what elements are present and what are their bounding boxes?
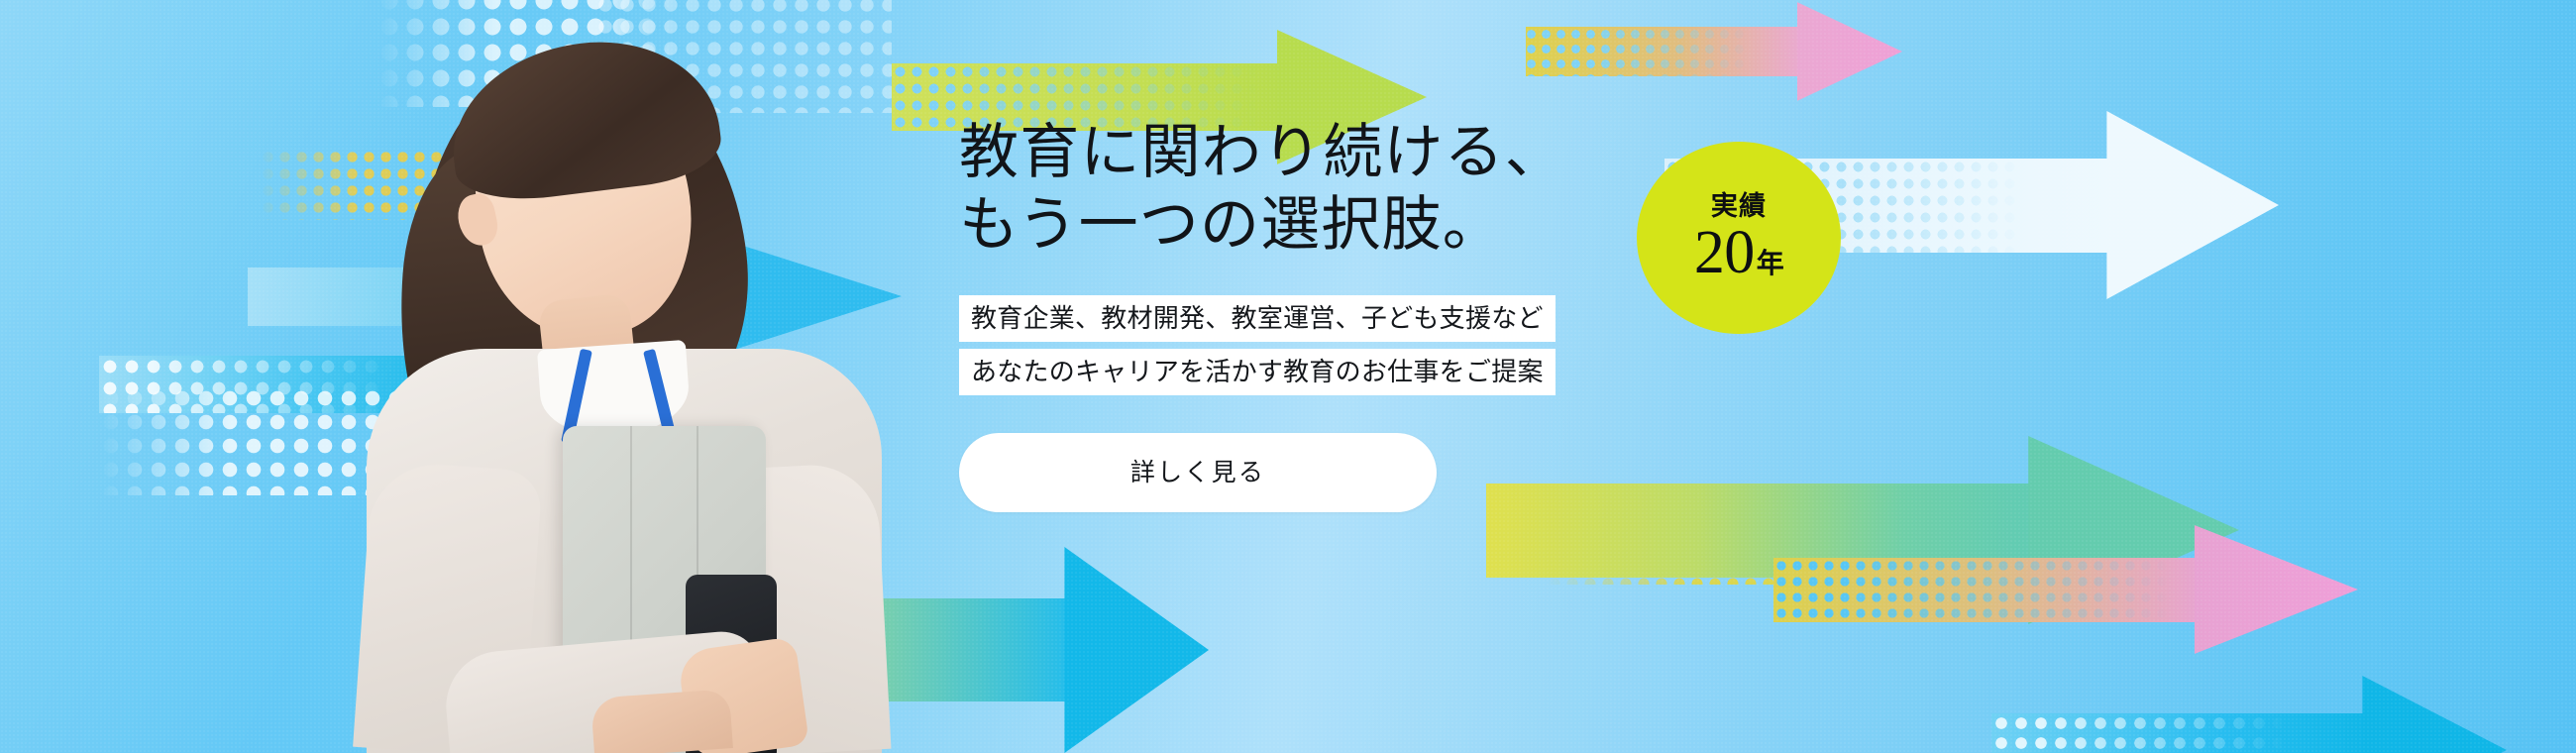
badge-number: 20 [1694, 219, 1755, 286]
badge-unit: 年 [1757, 249, 1783, 279]
achievement-badge: 実績 20年 [1637, 142, 1841, 334]
subtitle-line-1: 教育企業、教材開発、教室運営、子ども支援など [959, 295, 1556, 342]
view-details-button[interactable]: 詳しく見る [959, 433, 1437, 512]
badge-number-row: 20年 [1694, 222, 1783, 283]
badge-top-label: 実績 [1711, 193, 1767, 220]
subtitle-line-2: あなたのキャリアを活かす教育のお仕事をご提案 [959, 349, 1556, 395]
hero-banner: 教育に関わり続ける、 もう一つの選択肢。 教育企業、教材開発、教室運営、子ども支… [0, 0, 2576, 753]
